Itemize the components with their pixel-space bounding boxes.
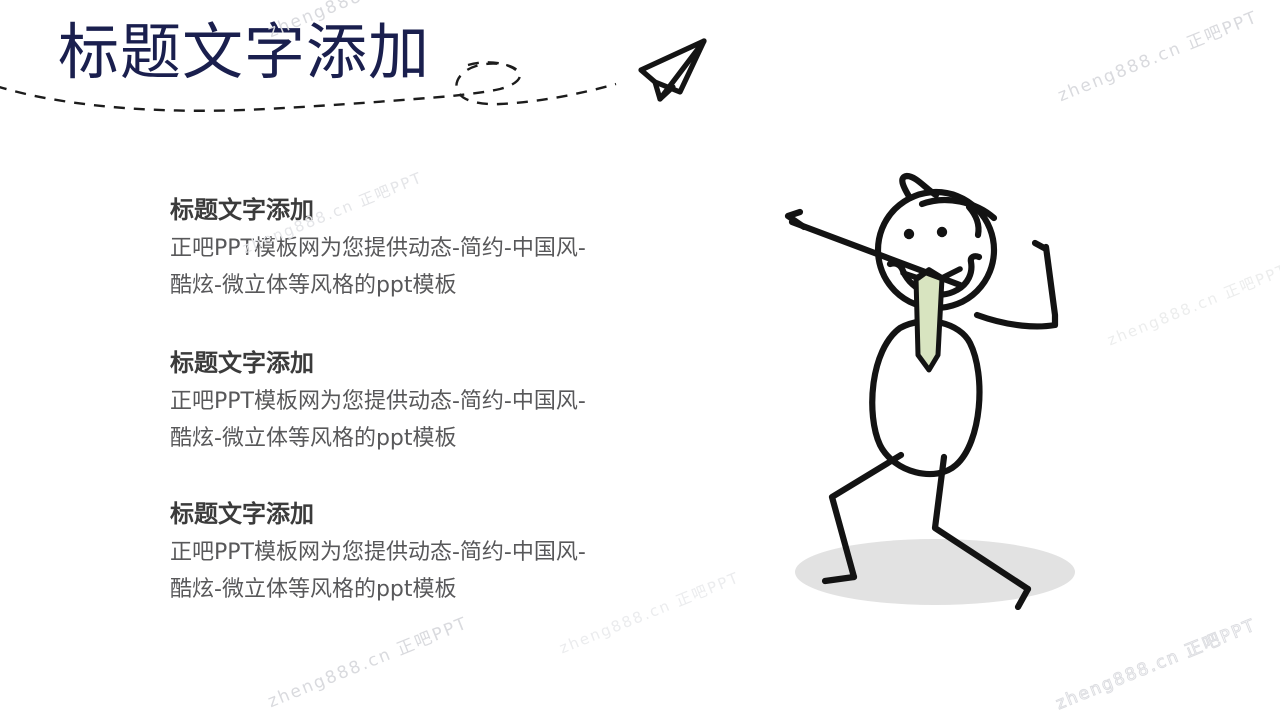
figure-leg-left bbox=[832, 455, 901, 577]
figure-hair-swoosh-2 bbox=[969, 207, 979, 235]
watermark: zheng888.cn 正吧PPT bbox=[1104, 259, 1280, 351]
figure-torso bbox=[872, 321, 979, 474]
content-block-2: 标题文字添加 正吧PPT模板网为您提供动态-简约-中国风- 酷炫-微立体等风格的… bbox=[170, 347, 690, 457]
figure-smile bbox=[890, 256, 979, 294]
figure-eye-right bbox=[937, 227, 947, 237]
block-body: 正吧PPT模板网为您提供动态-简约-中国风- 酷炫-微立体等风格的ppt模板 bbox=[170, 534, 690, 608]
content-block-3: 标题文字添加 正吧PPT模板网为您提供动态-简约-中国风- 酷炫-微立体等风格的… bbox=[170, 498, 690, 608]
block-body-line-2: 酷炫-微立体等风格的ppt模板 bbox=[170, 577, 457, 602]
figure-eye-left bbox=[904, 229, 914, 239]
figure-hair-swoosh bbox=[922, 200, 994, 218]
block-heading: 标题文字添加 bbox=[170, 194, 690, 226]
paper-plane-icon bbox=[641, 41, 704, 99]
block-heading: 标题文字添加 bbox=[170, 498, 690, 530]
figure-shadow bbox=[795, 539, 1075, 605]
stick-figure-businessman-icon bbox=[770, 165, 1100, 610]
figure-collar bbox=[903, 269, 960, 278]
figure-hair-tuft bbox=[902, 176, 936, 198]
figure-hand-left bbox=[788, 212, 804, 227]
block-body-line-1: 正吧PPT模板网为您提供动态-简约-中国风- bbox=[170, 236, 586, 261]
block-heading: 标题文字添加 bbox=[170, 347, 690, 379]
block-body-line-1: 正吧PPT模板网为您提供动态-简约-中国风- bbox=[170, 540, 586, 565]
figure-arm-right bbox=[977, 247, 1055, 326]
figure-head bbox=[878, 192, 994, 308]
figure-hand-right bbox=[1035, 243, 1046, 249]
block-body: 正吧PPT模板网为您提供动态-简约-中国风- 酷炫-微立体等风格的ppt模板 bbox=[170, 383, 690, 457]
figure-foot-right bbox=[1018, 589, 1028, 607]
figure-necktie bbox=[916, 270, 942, 370]
block-body-line-1: 正吧PPT模板网为您提供动态-简约-中国风- bbox=[170, 389, 586, 414]
block-body-line-2: 酷炫-微立体等风格的ppt模板 bbox=[170, 273, 457, 298]
block-body-line-2: 酷炫-微立体等风格的ppt模板 bbox=[170, 426, 457, 451]
figure-arm-left bbox=[792, 222, 960, 285]
page-title: 标题文字添加 bbox=[58, 17, 430, 89]
watermark: zheng888.cn 正吧PPT bbox=[263, 609, 471, 712]
slide-canvas: 标题文字添加 标题文字添加 正吧PPT模板网为您提供动态-简约-中国风- 酷炫-… bbox=[0, 0, 1280, 720]
figure-leg-right bbox=[935, 457, 1028, 589]
figure-foot-left bbox=[825, 577, 854, 581]
watermark: zheng888.cn 正吧PPT bbox=[1051, 611, 1259, 714]
watermark: zheng888.cn 正吧PPT bbox=[1053, 3, 1261, 106]
